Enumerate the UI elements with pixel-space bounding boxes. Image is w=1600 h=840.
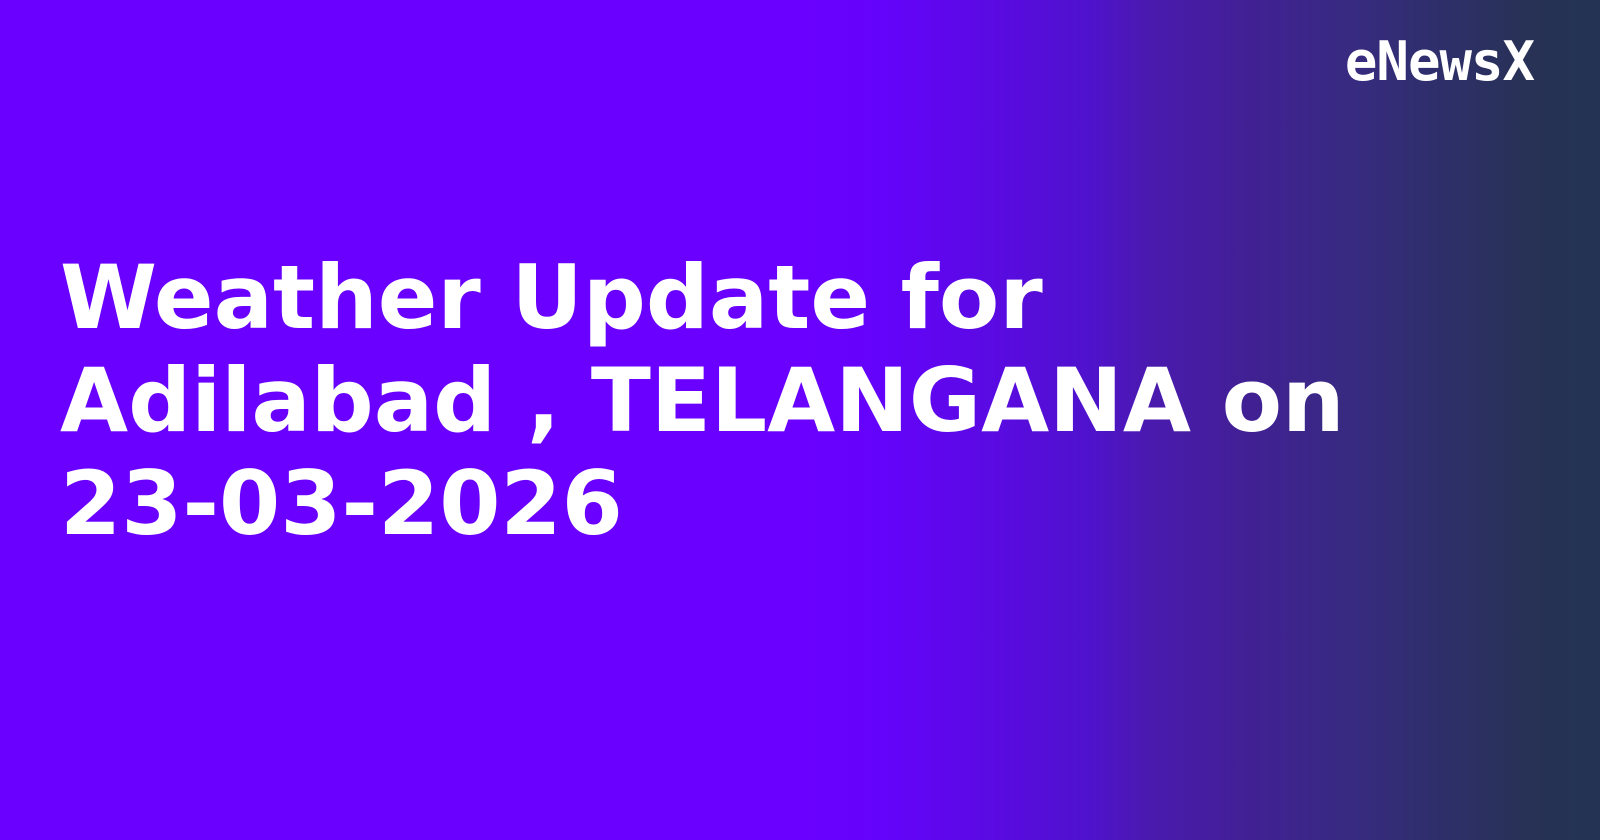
weather-update-banner: eNewsX Weather Update for Adilabad , TEL… (0, 0, 1600, 840)
brand-logo[interactable]: eNewsX (1345, 34, 1534, 90)
page-title: Weather Update for Adilabad , TELANGANA … (60, 246, 1452, 555)
enewsx-wordmark-icon: eNewsX (1345, 35, 1534, 89)
headline-block: Weather Update for Adilabad , TELANGANA … (60, 246, 1452, 555)
